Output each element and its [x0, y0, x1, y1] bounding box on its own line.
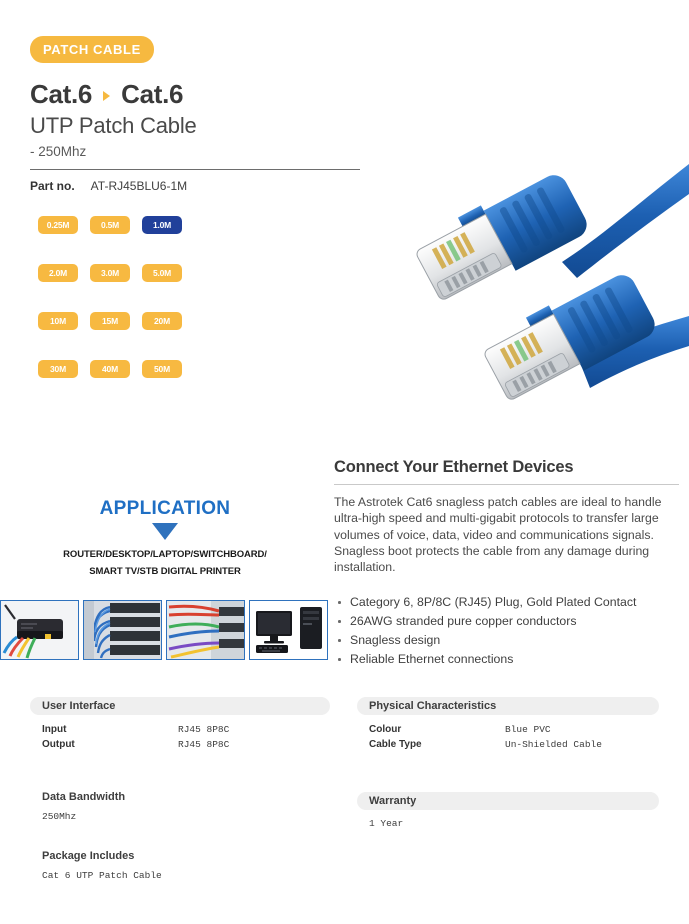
spec-value: RJ45 8P8C	[178, 737, 229, 752]
page-title: Cat.6	[30, 79, 92, 110]
triangle-right-icon	[103, 91, 110, 101]
spec-value: Blue PVC	[505, 722, 551, 737]
spec-value: RJ45 8P8C	[178, 722, 229, 737]
length-option-40m[interactable]: 40M	[90, 360, 130, 378]
description-title: Connect Your Ethernet Devices	[334, 458, 682, 477]
cat6-cable-illustration	[372, 150, 689, 450]
spec-value: 250Mhz	[30, 811, 330, 822]
length-option-15m[interactable]: 15M	[90, 312, 130, 330]
spec-table-package-includes: Package Includes Cat 6 UTP Patch Cable	[30, 850, 330, 881]
application-thumbnail-strip	[0, 600, 330, 660]
spec-table-title: Physical Characteristics	[357, 697, 659, 715]
length-option-20m[interactable]: 20M	[142, 312, 182, 330]
list-item: 26AWG stranded pure copper conductors	[334, 612, 682, 631]
spec-key: Input	[42, 722, 178, 737]
length-option-5-0m[interactable]: 5.0M	[142, 264, 182, 282]
product-frequency: - 250Mhz	[30, 144, 370, 159]
length-option-10m[interactable]: 10M	[38, 312, 78, 330]
thumbnail-router	[0, 600, 79, 660]
part-number-value: AT-RJ45BLU6-1M	[91, 179, 187, 193]
product-header: PATCH CABLE Cat.6 Cat.6 UTP Patch Cable …	[30, 36, 370, 193]
spec-table-title: Warranty	[357, 792, 659, 810]
spec-value: 1 Year	[357, 818, 659, 829]
description-body: The Astrotek Cat6 snagless patch cables …	[334, 494, 682, 575]
arrow-down-icon	[152, 523, 178, 540]
spec-table-title: Data Bandwidth	[30, 791, 330, 803]
spec-value: Un-Shielded Cable	[505, 737, 602, 752]
header-divider	[30, 169, 360, 170]
spec-key: Colour	[369, 722, 505, 737]
product-title-row: Cat.6 Cat.6	[30, 79, 370, 110]
spec-rows-user-interface: Input RJ45 8P8C Output RJ45 8P8C	[30, 722, 330, 752]
description-section: Connect Your Ethernet Devices The Astrot…	[334, 458, 682, 669]
spec-table-physical-characteristics: Physical Characteristics Colour Blue PVC…	[357, 697, 659, 752]
spec-key: Output	[42, 737, 178, 752]
spec-table-title: Package Includes	[30, 850, 330, 862]
application-title: APPLICATION	[0, 498, 330, 520]
length-option-grid[interactable]: 0.25M0.5M1.0M2.0M3.0M5.0M10M15M20M30M40M…	[38, 216, 198, 408]
thumbnail-patch-cables	[166, 600, 245, 660]
table-row: Output RJ45 8P8C	[42, 737, 330, 752]
table-row: Colour Blue PVC	[369, 722, 659, 737]
product-subtitle: UTP Patch Cable	[30, 113, 370, 139]
application-devices-line-1: ROUTER/DESKTOP/LAPTOP/SWITCHBOARD/	[0, 546, 330, 563]
length-option-0-5m[interactable]: 0.5M	[90, 216, 130, 234]
length-option-3-0m[interactable]: 3.0M	[90, 264, 130, 282]
spec-table-data-bandwidth: Data Bandwidth 250Mhz	[30, 791, 330, 822]
application-devices-line-2: SMART TV/STB DIGITAL PRINTER	[0, 563, 330, 580]
spec-table-warranty: Warranty 1 Year	[357, 792, 659, 829]
spec-table-user-interface: User Interface Input RJ45 8P8C Output RJ…	[30, 697, 330, 752]
application-block: APPLICATION ROUTER/DESKTOP/LAPTOP/SWITCH…	[0, 498, 330, 580]
spec-table-title: User Interface	[30, 697, 330, 715]
thumbnail-patch-panel	[83, 600, 162, 660]
page-title-secondary: Cat.6	[121, 79, 183, 110]
spec-column-left: User Interface Input RJ45 8P8C Output RJ…	[30, 697, 330, 822]
part-number-row: Part no. AT-RJ45BLU6-1M	[30, 179, 370, 193]
list-item: Reliable Ethernet connections	[334, 650, 682, 669]
table-row: Cable Type Un-Shielded Cable	[369, 737, 659, 752]
table-row: Input RJ45 8P8C	[42, 722, 330, 737]
description-divider	[334, 484, 679, 485]
product-hero-image	[372, 150, 689, 450]
list-item: Snagless design	[334, 631, 682, 650]
length-option-0-25m[interactable]: 0.25M	[38, 216, 78, 234]
spec-column-right: Physical Characteristics Colour Blue PVC…	[357, 697, 659, 829]
thumbnail-desktop-pc	[249, 600, 328, 660]
spec-key: Cable Type	[369, 737, 505, 752]
length-option-30m[interactable]: 30M	[38, 360, 78, 378]
length-option-2-0m[interactable]: 2.0M	[38, 264, 78, 282]
category-badge: PATCH CABLE	[30, 36, 154, 63]
length-option-50m[interactable]: 50M	[142, 360, 182, 378]
length-option-1-0m[interactable]: 1.0M	[142, 216, 182, 234]
spec-value: Cat 6 UTP Patch Cable	[30, 870, 330, 881]
feature-bullet-list: Category 6, 8P/8C (RJ45) Plug, Gold Plat…	[334, 593, 682, 669]
part-number-label: Part no.	[30, 179, 75, 193]
spec-rows-physical: Colour Blue PVC Cable Type Un-Shielded C…	[357, 722, 659, 752]
list-item: Category 6, 8P/8C (RJ45) Plug, Gold Plat…	[334, 593, 682, 612]
product-datasheet-page: PATCH CABLE Cat.6 Cat.6 UTP Patch Cable …	[0, 0, 689, 924]
